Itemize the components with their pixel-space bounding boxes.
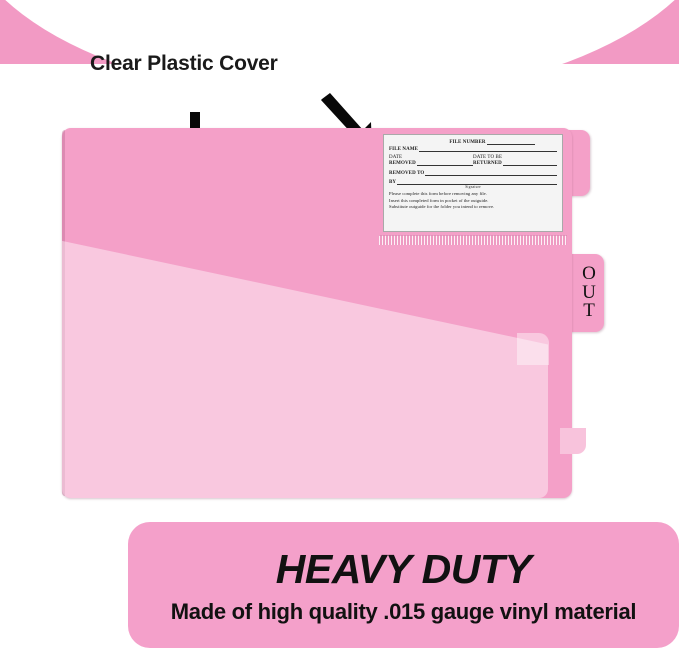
form-instructions: Please complete this form before removin… <box>389 191 557 211</box>
top-white-ellipse <box>0 0 679 100</box>
form-row-file-number: FILE NUMBER <box>389 139 557 146</box>
callout-label-clear-plastic-cover: Clear Plastic Cover <box>90 52 278 76</box>
form-dates-left: DATE REMOVED <box>389 155 473 166</box>
form-label-returned: RETURNED <box>473 161 502 166</box>
outguide-form-card: FILE NUMBER FILE NAME DATE REMOVED DATE … <box>383 134 563 232</box>
form-rule-returned <box>503 160 557 166</box>
form-pocket-perforated-band <box>379 235 567 245</box>
form-returned-line: RETURNED <box>473 160 557 166</box>
form-rule-removed-to <box>425 170 557 176</box>
form-rule-removed <box>417 160 473 166</box>
product-image-canvas: Clear Plastic Cover O U T FILE NUMBER <box>0 0 679 658</box>
form-row-removed-to: REMOVED TO <box>389 170 557 176</box>
form-label-removed: REMOVED <box>389 161 416 166</box>
form-label-file-name: FILE NAME <box>389 147 418 152</box>
outguide-form-insert: FILE NUMBER FILE NAME DATE REMOVED DATE … <box>375 129 571 255</box>
form-label-removed-to: REMOVED TO <box>389 171 424 176</box>
form-rule-file-name <box>419 146 557 152</box>
out-letter-t: T <box>583 302 595 320</box>
form-label-by: BY <box>389 180 396 185</box>
clear-plastic-cover-corner <box>517 333 549 365</box>
feature-banner: HEAVY DUTY Made of high quality .015 gau… <box>128 522 679 648</box>
form-removed-line: REMOVED <box>389 160 473 166</box>
form-dates-right: DATE TO BE RETURNED <box>473 155 557 166</box>
form-row-file-name: FILE NAME <box>389 146 557 152</box>
banner-title: HEAVY DUTY <box>276 546 531 593</box>
banner-subtitle: Made of high quality .015 gauge vinyl ma… <box>171 599 636 625</box>
form-instruction-line-3: Substitute outguide for the folder you i… <box>389 204 557 211</box>
form-label-file-number: FILE NUMBER <box>449 140 485 145</box>
form-row-dates: DATE REMOVED DATE TO BE RETURNED <box>389 155 557 166</box>
form-label-signature: Signature <box>389 185 557 189</box>
form-rule-file-number <box>487 139 535 145</box>
folder-bottom-notch <box>560 428 586 454</box>
